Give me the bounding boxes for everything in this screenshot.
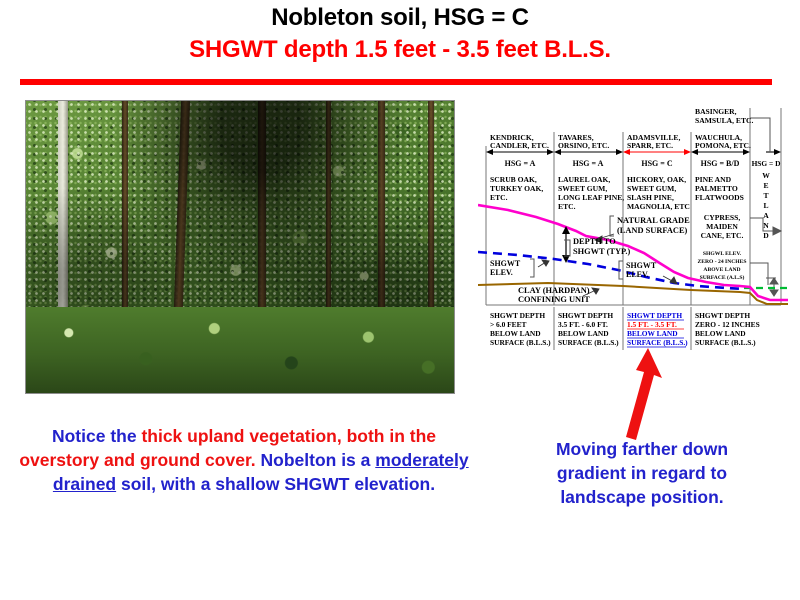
soil-catena-diagram: KENDRICK, CANDLER, ETC. TAVARES, ORSINO,… <box>478 100 788 362</box>
photo-ground-cover <box>26 307 454 393</box>
caption-seg-shallow-shgwt: soil, with a shallow SHGWT elevation. <box>116 474 435 494</box>
svg-text:E: E <box>763 181 768 190</box>
shgwt-elev-mid-l2: ELEV. <box>626 270 649 279</box>
natural-grade-bracket <box>610 216 614 236</box>
page-title: Nobleton soil, HSG = C <box>0 4 800 32</box>
col-1-veg-l2: SWEET GUM, <box>558 184 607 193</box>
col-1-veg-l4: ETC. <box>558 202 576 211</box>
wetland-elev-bracket <box>750 263 768 285</box>
depth-to-shgwt-l2: SHGWT (TYP.) <box>573 247 630 256</box>
svg-text:BELOW LAND: BELOW LAND <box>627 329 678 338</box>
shgwt-elev-left-l2: ELEV. <box>490 268 513 277</box>
svg-text:BELOW LAND: BELOW LAND <box>558 329 609 338</box>
col-4-soils-l2: SAMSULA, ETC. <box>695 116 754 125</box>
svg-text:L: L <box>763 201 768 210</box>
svg-text:N: N <box>763 221 769 230</box>
col-2-veg-l2: SWEET GUM, <box>627 184 676 193</box>
svg-text:SURFACE (B.L.S.): SURFACE (B.L.S.) <box>558 338 619 347</box>
col-3-soils-l2: POMONA, ETC. <box>695 141 751 150</box>
svg-text:W: W <box>762 171 770 180</box>
depth-to-shgwt-l1: DEPTH TO <box>573 237 616 246</box>
col-4-depth-l2: ZERO - 24 INCHES <box>698 259 747 265</box>
col-2-veg-l1: HICKORY, OAK, <box>627 175 686 184</box>
emphasis-arrow <box>592 348 672 443</box>
right-caption: Moving farther down gradient in regard t… <box>497 437 787 509</box>
depth-to-shgwt-arrow <box>562 226 570 263</box>
clay-hardpan-l1: CLAY (HARDPAN) <box>518 286 590 295</box>
col-2-veg-l4: MAGNOLIA, ETC <box>627 202 690 211</box>
col-3-veg-l1: PINE AND <box>695 175 732 184</box>
col-2-hsg: HSG = C <box>641 159 672 168</box>
col-4-depth-l1: SHGWL ELEV. <box>703 251 742 257</box>
col-1-veg-l1: LAUREL OAK, <box>558 175 610 184</box>
svg-text:SHGWT DEPTH: SHGWT DEPTH <box>558 311 613 320</box>
col-1-soils-l2: ORSINO, ETC. <box>558 141 609 150</box>
svg-text:SHGWT DEPTH: SHGWT DEPTH <box>490 311 545 320</box>
page-subtitle: SHGWT depth 1.5 feet - 3.5 feet B.L.S. <box>0 36 800 64</box>
natural-grade-l1: NATURAL GRADE <box>617 216 690 225</box>
col-4-depth-l3: ABOVE LAND <box>703 267 740 273</box>
depth-label-band: SHGWT DEPTH > 6.0 FEET BELOW LAND SURFAC… <box>490 311 760 347</box>
col-4-depth-l4: SURFACE (A.L.S) <box>700 274 745 281</box>
svg-text:SHGWT DEPTH: SHGWT DEPTH <box>695 311 750 320</box>
col-3-hsg: HSG = B/D <box>701 159 740 168</box>
slide-canvas: Nobleton soil, HSG = C SHGWT depth 1.5 f… <box>0 0 800 600</box>
shgwt-elev-mid-l1: SHGWT <box>626 261 657 270</box>
svg-text:A: A <box>763 211 769 220</box>
col-4-soils-l1: BASINGER, <box>695 107 737 116</box>
svg-text:T: T <box>763 191 768 200</box>
natural-grade-l2: (LAND SURFACE) <box>617 226 688 235</box>
title-divider-rule <box>20 79 772 85</box>
col-4-veg-l1: CYPRESS, <box>704 213 741 222</box>
svg-text:> 6.0 FEET: > 6.0 FEET <box>490 320 527 329</box>
col-1-hsg: HSG = A <box>573 159 604 168</box>
depth-to-shgwt-bracket <box>564 240 570 256</box>
caption-seg-notice: Notice the <box>52 426 141 446</box>
arrow-shape <box>626 348 662 440</box>
vegetation-photo <box>25 100 455 394</box>
col-0-soils-l2: CANDLER, ETC. <box>490 141 549 150</box>
svg-text:ZERO - 12 INCHES: ZERO - 12 INCHES <box>695 320 760 329</box>
right-caption-line-1: Moving farther down <box>497 437 787 461</box>
svg-text:1.5 FT. - 3.5 FT.: 1.5 FT. - 3.5 FT. <box>627 320 677 329</box>
col-0-veg-l2: TURKEY OAK, <box>490 184 543 193</box>
shgwt-elev-left-l1: SHGWT <box>490 259 521 268</box>
right-caption-line-3: landscape position. <box>497 485 787 509</box>
wetland-vertical-label: WET LAN D <box>762 171 770 240</box>
left-caption: Notice the thick upland vegetation, both… <box>14 424 474 496</box>
svg-text:3.5 FT. - 6.0 FT.: 3.5 FT. - 6.0 FT. <box>558 320 608 329</box>
svg-text:BELOW LAND: BELOW LAND <box>490 329 541 338</box>
shgwt-elev-left-bracket <box>530 259 534 277</box>
col-2-soils-l2: SPARR, ETC. <box>627 141 673 150</box>
col-4-veg-l2: MAIDEN <box>706 222 738 231</box>
svg-text:D: D <box>763 231 769 240</box>
caption-seg-nobelton: Nobelton is a <box>256 450 376 470</box>
col-2-veg-l3: SLASH PINE, <box>627 193 674 202</box>
col-3-veg-l3: FLATWOODS <box>695 193 744 202</box>
svg-text:BELOW LAND: BELOW LAND <box>695 329 746 338</box>
col-4-hsg: HSG = D <box>752 159 781 168</box>
col-0-veg-l3: ETC. <box>490 193 508 202</box>
svg-text:SHGWT DEPTH: SHGWT DEPTH <box>627 311 682 320</box>
svg-text:SURFACE (B.L.S.): SURFACE (B.L.S.) <box>490 338 551 347</box>
col-4-veg-l3: CANE, ETC. <box>701 231 744 240</box>
clay-hardpan-l2: CONFINING UNIT <box>518 295 590 304</box>
col-0-veg-l1: SCRUB OAK, <box>490 175 537 184</box>
col-0-hsg: HSG = A <box>505 159 536 168</box>
svg-text:SURFACE (B.L.S.): SURFACE (B.L.S.) <box>627 338 688 347</box>
col-3-veg-l2: PALMETTO <box>695 184 738 193</box>
right-caption-line-2: gradient in regard to <box>497 461 787 485</box>
col-1-veg-l3: LONG LEAF PINE, <box>558 193 624 202</box>
svg-text:SURFACE (B.L.S.): SURFACE (B.L.S.) <box>695 338 756 347</box>
